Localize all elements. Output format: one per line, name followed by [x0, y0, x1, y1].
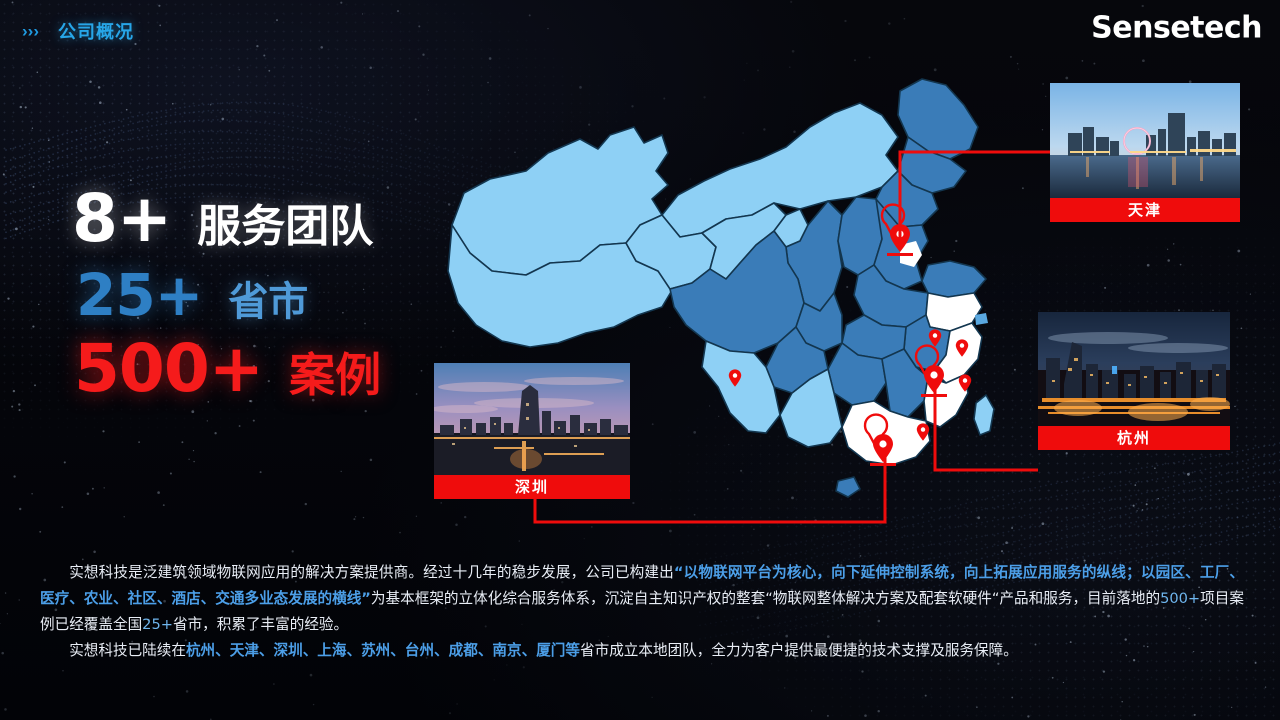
para1-part-a: 实想科技是泛建筑领域物联网应用的解决方案提供商。经过十几年的稳步发展，公司已构建…	[69, 564, 674, 581]
para1-number-provinces: 25+	[142, 616, 173, 633]
description-paragraph: 实想科技是泛建筑领域物联网应用的解决方案提供商。经过十几年的稳步发展，公司已构建…	[40, 560, 1244, 664]
city-card-hangzhou[interactable]: 杭州	[1038, 312, 1230, 450]
para2-part-b: 省市成立本地团队，全力为客户提供最便捷的技术支撑及服务保障。	[580, 642, 1018, 659]
city-card-tianjin[interactable]: 天津	[1050, 83, 1240, 222]
para2-part-a: 实想科技已陆续在	[69, 642, 186, 659]
paragraph-1: 实想科技是泛建筑领域物联网应用的解决方案提供商。经过十几年的稳步发展，公司已构建…	[40, 560, 1244, 638]
slide-root: ››› 公司概况 Sensetech 8+ 服务团队 25+ 省市 500+ 案…	[0, 0, 1280, 720]
city-card-shenzhen[interactable]: 深圳	[434, 363, 630, 499]
para1-part-d: 省市，积累了丰富的经验。	[173, 616, 348, 633]
para1-part-b: 为基本框架的立体化综合服务体系，沉淀自主知识产权的整套“物联网整体解决方案及配套…	[371, 590, 1160, 607]
para2-city-list: 杭州、天津、深圳、上海、苏州、台州、成都、南京、厦门等	[186, 642, 580, 659]
connector-hangzhou	[935, 388, 1038, 470]
connector-tianjin	[900, 152, 1050, 238]
city-card-label: 深圳	[434, 475, 630, 499]
city-card-label: 杭州	[1038, 426, 1230, 450]
paragraph-2: 实想科技已陆续在杭州、天津、深圳、上海、苏州、台州、成都、南京、厦门等省市成立本…	[40, 638, 1244, 664]
tianjin-skyline-photo	[1050, 83, 1240, 198]
shenzhen-dusk-skyline-photo	[434, 363, 630, 475]
city-card-label: 天津	[1050, 198, 1240, 222]
para1-number-cases: 500+	[1160, 590, 1200, 607]
hangzhou-night-skyline-photo	[1038, 312, 1230, 426]
